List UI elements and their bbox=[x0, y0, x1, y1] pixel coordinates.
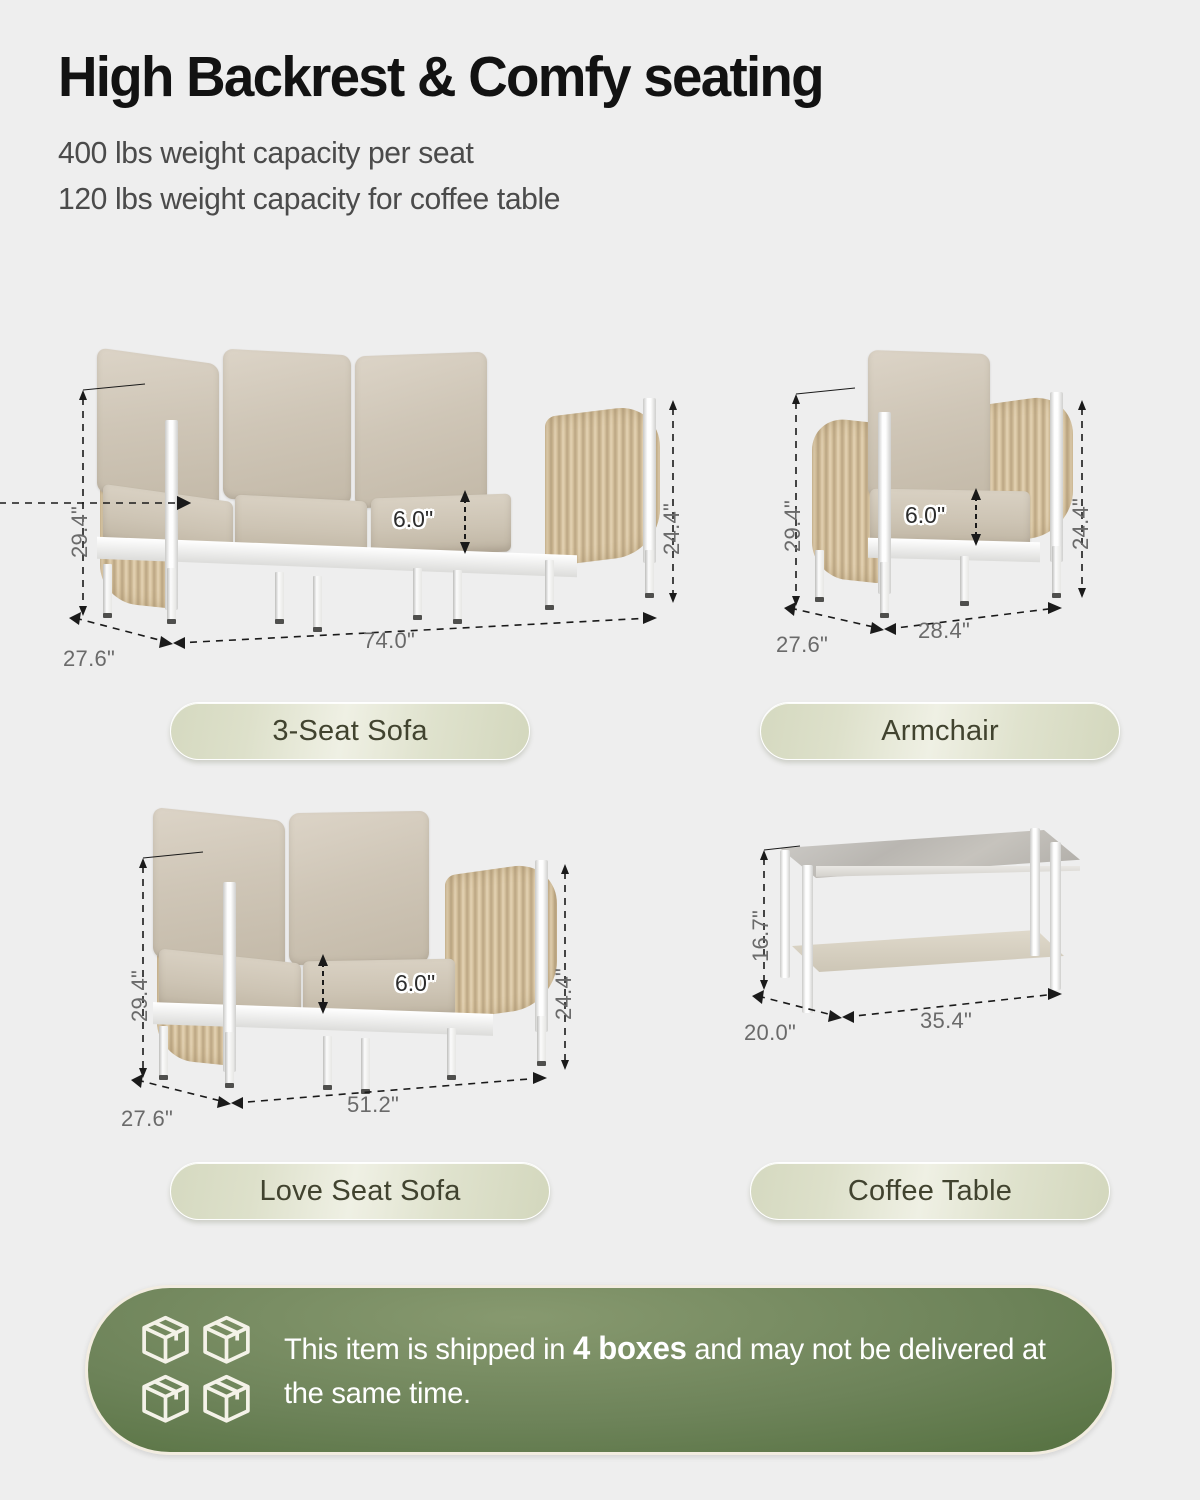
shipping-box-count: 4 boxes bbox=[573, 1330, 687, 1366]
product-cell-love-seat-sofa: 29.4" 24.4" 27.6" 51.2" 6.0" Love Seat S… bbox=[95, 810, 615, 1140]
header-subtext: 400 lbs weight capacity per seat 120 lbs… bbox=[58, 130, 1125, 222]
infographic-page: High Backrest & Comfy seating 400 lbs we… bbox=[0, 0, 1200, 1500]
product-grid: 29.4" 24.4" 27.6" 74.0" 6.0" 3-Seat Sofa bbox=[0, 350, 1200, 1230]
armchair-height-right-label: 24.4" bbox=[1068, 498, 1094, 550]
loveseat-cushion-label: 6.0" bbox=[395, 970, 435, 997]
box-icon bbox=[197, 1312, 256, 1369]
coffee-table-illustration: 16.7" 20.0" 35.4" bbox=[730, 810, 1150, 1140]
loveseat-height-left-label: 29.4" bbox=[127, 970, 153, 1022]
coffee-table-height-label: 16.7" bbox=[748, 910, 774, 962]
loveseat-width-label: 51.2" bbox=[347, 1092, 399, 1118]
capacity-table-line: 120 lbs weight capacity for coffee table bbox=[58, 176, 1125, 222]
armchair-height-left-label: 29.4" bbox=[780, 500, 806, 552]
loveseat-height-right-label: 24.4" bbox=[551, 968, 577, 1020]
sofa-height-right-label: 24.4" bbox=[659, 503, 685, 555]
product-row-1: 29.4" 24.4" 27.6" 74.0" 6.0" 3-Seat Sofa bbox=[0, 350, 1200, 770]
label-pill-three-seat-sofa[interactable]: 3-Seat Sofa bbox=[170, 702, 530, 760]
shipping-text-before: This item is shipped in bbox=[284, 1333, 573, 1366]
product-cell-coffee-table: 16.7" 20.0" 35.4" Coffee Table bbox=[730, 810, 1150, 1140]
coffee-table-width-label: 35.4" bbox=[920, 1008, 972, 1034]
coffee-table-dimension-lines bbox=[730, 810, 1150, 1140]
label-pill-armchair[interactable]: Armchair bbox=[760, 702, 1120, 760]
sofa-depth-label: 27.6" bbox=[63, 646, 115, 672]
capacity-seat-line: 400 lbs weight capacity per seat bbox=[58, 130, 1125, 176]
sofa-width-label: 74.0" bbox=[363, 628, 415, 654]
box-icon bbox=[136, 1312, 195, 1369]
label-pill-love-seat-sofa[interactable]: Love Seat Sofa bbox=[170, 1162, 550, 1220]
love-seat-illustration: 29.4" 24.4" 27.6" 51.2" 6.0" bbox=[95, 810, 615, 1140]
shipping-banner: This item is shipped in 4 boxes and may … bbox=[85, 1285, 1115, 1455]
armchair-illustration: 29.4" 24.4" 27.6" 28.4" 6.0" bbox=[750, 350, 1170, 680]
box-icon bbox=[197, 1371, 256, 1428]
label-pill-text: 3-Seat Sofa bbox=[272, 715, 427, 748]
label-pill-text: Coffee Table bbox=[848, 1175, 1012, 1208]
box-icon bbox=[136, 1371, 195, 1428]
product-row-2: 29.4" 24.4" 27.6" 51.2" 6.0" Love Seat S… bbox=[0, 810, 1200, 1230]
label-pill-text: Love Seat Sofa bbox=[259, 1175, 460, 1208]
loveseat-depth-label: 27.6" bbox=[121, 1106, 173, 1132]
three-seat-sofa-illustration: 29.4" 24.4" 27.6" 74.0" 6.0" bbox=[45, 350, 685, 680]
sofa-height-left-label: 29.4" bbox=[67, 506, 93, 558]
sofa-cushion-label: 6.0" bbox=[393, 506, 433, 533]
loveseat-dimension-lines bbox=[95, 810, 615, 1140]
page-title: High Backrest & Comfy seating bbox=[58, 48, 1114, 108]
product-cell-three-seat-sofa: 29.4" 24.4" 27.6" 74.0" 6.0" 3-Seat Sofa bbox=[45, 350, 685, 680]
armchair-cushion-label: 6.0" bbox=[905, 502, 945, 529]
product-cell-armchair: 29.4" 24.4" 27.6" 28.4" 6.0" Armchair bbox=[750, 350, 1170, 680]
coffee-table-depth-label: 20.0" bbox=[744, 1020, 796, 1046]
shipping-boxes-icon-group bbox=[136, 1312, 256, 1428]
armchair-depth-label: 27.6" bbox=[776, 632, 828, 658]
header-block: High Backrest & Comfy seating 400 lbs we… bbox=[58, 48, 1158, 222]
label-pill-coffee-table[interactable]: Coffee Table bbox=[750, 1162, 1110, 1220]
label-pill-text: Armchair bbox=[881, 715, 999, 748]
shipping-banner-text: This item is shipped in 4 boxes and may … bbox=[284, 1325, 1087, 1415]
armchair-width-label: 28.4" bbox=[918, 618, 970, 644]
